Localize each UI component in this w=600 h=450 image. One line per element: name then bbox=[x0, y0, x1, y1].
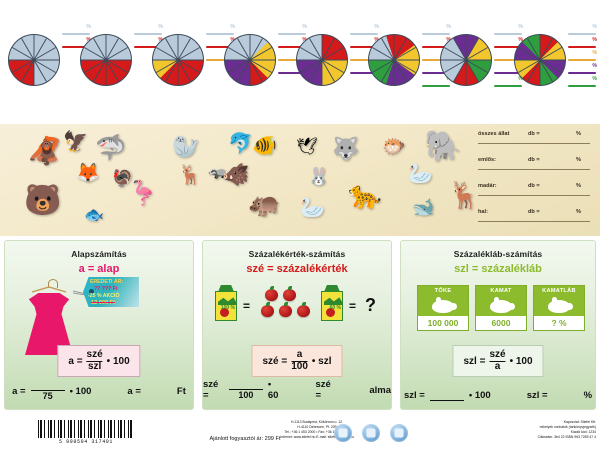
formula-panels: Alapszámítás a = alap EREDETI ÁR: ?? ?? bbox=[0, 236, 600, 414]
formula-1-fraction: szé szl bbox=[87, 350, 103, 372]
panel-szazalekertek[interactable]: Százalékérték-számítás szé = százalékért… bbox=[202, 240, 392, 410]
animal-perch[interactable]: 🐡 bbox=[382, 138, 406, 157]
animal-flamingo[interactable]: 🦩 bbox=[128, 182, 158, 206]
pie-group-1[interactable]: %% bbox=[6, 16, 88, 124]
animal-trout[interactable]: 🐟 bbox=[84, 208, 104, 224]
worksheet-3-lhs2: szl = bbox=[527, 390, 548, 401]
worksheet-2-denominator: 100 bbox=[229, 389, 263, 400]
pie-chart-2 bbox=[80, 34, 132, 86]
juice-box-60-label: 60 % bbox=[330, 306, 341, 311]
tag-line-2: ?? ??? Ft bbox=[94, 286, 118, 292]
juice-box-100-label: 100 % bbox=[221, 306, 235, 311]
tag-line-1: EREDETI ÁR: bbox=[90, 279, 123, 285]
pie-spokes bbox=[514, 34, 566, 86]
pie-chart-4 bbox=[224, 34, 276, 86]
worksheet-3-mid: • 100 bbox=[469, 390, 491, 401]
legend-row[interactable]: % bbox=[568, 76, 598, 89]
piggy-bank-icon bbox=[476, 296, 526, 316]
apple-icon bbox=[279, 305, 292, 317]
legend-row[interactable]: % bbox=[568, 37, 598, 50]
worksheet-1-mid: • 100 bbox=[70, 386, 92, 397]
panel-2-title: Százalékérték-számítás bbox=[203, 249, 391, 259]
formula-3-numerator: szé bbox=[489, 350, 505, 361]
animal-boar[interactable]: 🐗 bbox=[222, 164, 249, 186]
juice-leaf-icon bbox=[324, 297, 342, 305]
quality-seal-icon-1 bbox=[334, 424, 352, 442]
worksheet-3-unit: % bbox=[584, 390, 592, 401]
animal-seal[interactable]: 🦭 bbox=[172, 136, 199, 158]
pie-chart-band: %%%%%%%%%%%%%%%%%%%%%%%%%%%%%% bbox=[0, 16, 600, 124]
animal-tally-table: összes állatdb =%emlős:db =%madár:db =%h… bbox=[476, 128, 596, 232]
money-card-kamat[interactable]: KAMAT6000 bbox=[475, 285, 527, 331]
tally-row-3[interactable]: madár:db =% bbox=[476, 180, 596, 206]
pie-spokes bbox=[440, 34, 492, 86]
animal-catfish[interactable]: 🐋 bbox=[412, 198, 434, 216]
tally-rule bbox=[478, 143, 590, 144]
equals-sign-2: = bbox=[349, 299, 356, 313]
legend-answer-line[interactable] bbox=[568, 46, 596, 48]
panel-alapszamitas[interactable]: Alapszámítás a = alap EREDETI ÁR: ?? ?? bbox=[4, 240, 194, 410]
panel-3-formula: szl = szé a • 100 bbox=[452, 345, 543, 377]
worksheet-2-numerator-blank[interactable] bbox=[229, 380, 263, 389]
tag-line-3: -25 % AKCIÓ bbox=[88, 293, 120, 299]
animal-shark[interactable]: 🦈 bbox=[95, 136, 126, 161]
tally-percent-field[interactable]: % bbox=[576, 209, 581, 215]
tally-percent-field[interactable]: % bbox=[576, 183, 581, 189]
pie-legend-8[interactable]: %%%%% bbox=[568, 24, 598, 89]
pie-spokes bbox=[296, 34, 348, 86]
pie-group-2[interactable]: %% bbox=[78, 16, 160, 124]
worksheet-1-lhs2: a = bbox=[127, 386, 140, 397]
panel-1-title: Alapszámítás bbox=[5, 249, 193, 259]
hanger-bar-icon bbox=[31, 286, 67, 293]
animal-deer-young[interactable]: 🦌 bbox=[178, 166, 202, 185]
worksheet-1-unit: Ft bbox=[177, 386, 186, 397]
quality-seal-icon-3 bbox=[390, 424, 408, 442]
pie-spokes bbox=[80, 34, 132, 86]
price-tag: EREDETI ÁR: ?? ??? Ft -25 % AKCIÓ 12 000… bbox=[77, 277, 139, 307]
formula-2-denominator: 100 bbox=[291, 361, 308, 373]
formula-2-numerator: a bbox=[291, 350, 308, 361]
juice-box-60: 60 % bbox=[321, 285, 343, 321]
panel-1-formula: a = szé szl • 100 bbox=[57, 345, 140, 377]
apple-icon bbox=[297, 305, 310, 317]
tag-line-4: 12 000 Ft bbox=[91, 300, 115, 306]
animal-rabbit[interactable]: 🐰 bbox=[308, 168, 329, 185]
money-card-kamatláb[interactable]: KAMATLÁB? % bbox=[533, 285, 585, 331]
pie-group-5[interactable]: %%%% bbox=[294, 16, 376, 124]
worksheet-1-denominator: 75 bbox=[31, 390, 65, 401]
tally-rule bbox=[478, 169, 590, 170]
animal-mackerel[interactable]: 🐠 bbox=[252, 136, 277, 156]
piggy-bank-icon bbox=[418, 296, 468, 316]
animal-wolf[interactable]: 🐺 bbox=[332, 138, 359, 160]
quality-seal-icon-2 bbox=[362, 424, 380, 442]
apple-icon bbox=[261, 305, 274, 317]
animal-band: 🦧🦅🦈🦭🐬🦡🦊🦃🦌🐻🐟🦩🐗🦛🐠🕊🐺🐡🐘🐰🐆🦢🦢🐋🦌 összes állatdb… bbox=[0, 124, 600, 236]
legend-percent-label: % bbox=[592, 63, 597, 69]
tally-count-field[interactable]: db = bbox=[528, 157, 540, 163]
formula-3-rhs: • 100 bbox=[510, 356, 533, 367]
money-card-header: KAMATLÁB bbox=[534, 286, 584, 296]
formula-2-rhs: • szl bbox=[312, 356, 332, 367]
panel-2-worksheet-row[interactable]: szé = 100 • 60 szé = alma bbox=[203, 379, 391, 401]
apple-icon bbox=[265, 289, 278, 301]
worksheet-1-lhs: a = bbox=[12, 386, 25, 397]
tally-label: hal: bbox=[478, 209, 488, 215]
question-mark: ? bbox=[365, 295, 376, 316]
formula-3-denominator: a bbox=[489, 361, 505, 373]
worksheet-3-fraction[interactable] bbox=[430, 391, 464, 401]
worksheet-1-numerator-blank[interactable] bbox=[31, 381, 65, 390]
animal-orangutan[interactable]: 🦧 bbox=[28, 138, 62, 165]
worksheet-3-lhs: szl = bbox=[404, 390, 425, 401]
juice-box-body: 100 % bbox=[215, 291, 237, 321]
tally-count-field[interactable]: db = bbox=[528, 183, 540, 189]
poster-root: %%%%%%%%%%%%%%%%%%%%%%%%%%%%%% 🦧🦅🦈🦭🐬🦡🦊🦃🦌… bbox=[0, 0, 600, 450]
formula-2-fraction: a 100 bbox=[291, 350, 308, 372]
tally-row-4[interactable]: hal:db =% bbox=[476, 206, 596, 232]
worksheet-2-unit: alma bbox=[369, 385, 391, 396]
tally-count-field[interactable]: db = bbox=[528, 209, 540, 215]
worksheet-3-denominator bbox=[430, 400, 464, 401]
legend-row[interactable]: % bbox=[568, 63, 598, 76]
barcode-number: 5 998504 317401 bbox=[30, 439, 142, 445]
panel-3-worksheet-row[interactable]: szl = • 100 szl = % bbox=[401, 390, 595, 401]
pie-chart-7 bbox=[440, 34, 492, 86]
formula-1-rhs: • 100 bbox=[107, 356, 130, 367]
pie-group-3[interactable]: %%% bbox=[150, 16, 232, 124]
worksheet-2-lhs: szé = bbox=[203, 379, 224, 401]
panel-3-subtitle: szl = százalékláb bbox=[401, 263, 595, 275]
publisher-address-right: Kapcsolat: Stiefel Kft.mihelyek vonhatók… bbox=[476, 420, 596, 440]
pie-spokes bbox=[368, 34, 420, 86]
tally-label: madár: bbox=[478, 183, 497, 189]
legend-row[interactable]: % bbox=[568, 50, 598, 63]
money-card-value: ? % bbox=[534, 316, 584, 330]
pie-chart-3 bbox=[152, 34, 204, 86]
animal-swan[interactable]: 🦢 bbox=[300, 198, 325, 218]
animal-elephant[interactable]: 🐘 bbox=[424, 132, 461, 162]
tally-label: emlős: bbox=[478, 157, 496, 163]
animal-hippo[interactable]: 🦛 bbox=[248, 190, 280, 216]
pie-spokes bbox=[224, 34, 276, 86]
pie-spokes bbox=[152, 34, 204, 86]
juice-box-body: 60 % bbox=[321, 291, 343, 321]
panel-1-subtitle: a = alap bbox=[5, 263, 193, 275]
formula-3-fraction: szé a bbox=[489, 350, 505, 372]
pie-spokes bbox=[8, 34, 60, 86]
money-card-header: TŐKE bbox=[418, 286, 468, 296]
formula-3-lhs: szl = bbox=[463, 356, 485, 367]
tally-row-1[interactable]: összes állatdb =% bbox=[476, 128, 596, 154]
animal-bear[interactable]: 🐻 bbox=[24, 186, 61, 216]
animal-dolphin[interactable]: 🐬 bbox=[228, 134, 253, 154]
animal-swallow[interactable]: 🕊 bbox=[296, 138, 318, 155]
tally-percent-field[interactable]: % bbox=[576, 131, 581, 137]
worksheet-1-fraction[interactable]: 75 bbox=[31, 381, 65, 401]
worksheet-3-numerator-blank[interactable] bbox=[430, 391, 464, 400]
pie-chart-8 bbox=[514, 34, 566, 86]
formula-1-lhs: a = bbox=[68, 356, 82, 367]
tally-rule bbox=[478, 195, 590, 196]
panel-szazallekab[interactable]: Százalékláb-számítás szl = százalékláb T… bbox=[400, 240, 596, 410]
formula-2-lhs: szé = bbox=[262, 356, 287, 367]
pie-chart-5 bbox=[296, 34, 348, 86]
panel-2-formula: szé = a 100 • szl bbox=[251, 345, 342, 377]
pie-chart-1 bbox=[8, 34, 60, 86]
legend-percent-label: % bbox=[592, 24, 597, 30]
pie-group-6[interactable]: %%%%% bbox=[366, 16, 448, 124]
pie-chart-6 bbox=[368, 34, 420, 86]
equals-sign-1: = bbox=[243, 299, 250, 313]
animal-fox[interactable]: 🦊 bbox=[76, 164, 100, 183]
juice-leaf-icon bbox=[218, 297, 236, 305]
money-card-value: 6000 bbox=[476, 316, 526, 330]
tally-label: összes állat bbox=[478, 131, 509, 137]
worksheet-2-mid: • 60 bbox=[268, 379, 283, 401]
legend-answer-line[interactable] bbox=[568, 59, 596, 61]
apple-icon bbox=[283, 289, 296, 301]
legend-percent-label: % bbox=[592, 76, 597, 82]
panel-2-subtitle: szé = százalékérték bbox=[203, 263, 391, 275]
animal-heron[interactable]: 🦢 bbox=[408, 164, 433, 184]
legend-percent-label: % bbox=[592, 37, 597, 43]
tally-row-2[interactable]: emlős:db =% bbox=[476, 154, 596, 180]
animal-leopard[interactable]: 🐆 bbox=[348, 182, 382, 209]
formula-1-numerator: szé bbox=[87, 350, 103, 361]
formula-1-denominator: szl bbox=[87, 361, 103, 373]
money-card-tőke[interactable]: TŐKE100 000 bbox=[417, 285, 469, 331]
legend-row[interactable]: % bbox=[568, 24, 598, 37]
legend-percent-label: % bbox=[592, 50, 597, 56]
panel-3-title: Százalékláb-számítás bbox=[401, 249, 595, 259]
legend-answer-line[interactable] bbox=[568, 33, 596, 35]
tally-rule bbox=[478, 221, 590, 222]
publisher-address-left: H-1113 Budapest, Kökörcsin u. 12.H-4110 … bbox=[262, 420, 372, 440]
barcode-icon bbox=[38, 420, 134, 438]
legend-answer-line[interactable] bbox=[568, 85, 596, 87]
panel-1-worksheet-row[interactable]: a = 75 • 100 a = Ft bbox=[5, 381, 193, 401]
pie-group-8[interactable]: %%%%% bbox=[512, 16, 594, 124]
money-card-header: KAMAT bbox=[476, 286, 526, 296]
pie-group-4[interactable]: %%%% bbox=[222, 16, 304, 124]
pie-group-7[interactable]: %%%%% bbox=[438, 16, 520, 124]
piggy-bank-icon bbox=[534, 296, 584, 316]
animal-eagle[interactable]: 🦅 bbox=[63, 132, 88, 152]
juice-box-100: 100 % bbox=[215, 285, 237, 321]
tally-count-field[interactable]: db = bbox=[528, 131, 540, 137]
money-card-value: 100 000 bbox=[418, 316, 468, 330]
legend-answer-line[interactable] bbox=[568, 72, 596, 74]
tally-percent-field[interactable]: % bbox=[576, 157, 581, 163]
worksheet-2-lhs2: szé = bbox=[316, 379, 337, 401]
worksheet-2-fraction[interactable]: 100 bbox=[229, 380, 263, 400]
